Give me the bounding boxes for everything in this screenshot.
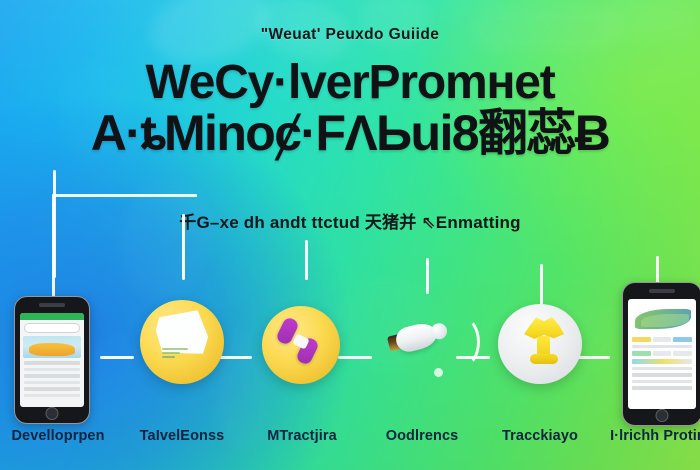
phone-chip-row xyxy=(632,337,692,342)
phone-content-row xyxy=(632,380,692,383)
bowtie-shape xyxy=(276,318,328,366)
paper-lines xyxy=(162,348,188,362)
phone-content-row xyxy=(24,394,80,397)
phone-hero-image xyxy=(23,336,81,358)
timeline-node-4[interactable]: Oodlrencs xyxy=(364,276,480,470)
spray-droplet xyxy=(434,368,443,377)
phone-hero-graphic xyxy=(631,303,693,335)
timeline-stem xyxy=(53,170,56,278)
timeline-node-6[interactable]: I·lrichh Protin xyxy=(600,276,700,470)
phone-content-row xyxy=(24,387,80,391)
sprout-circle-icon xyxy=(498,304,582,384)
node-art xyxy=(600,276,700,426)
spray-arc xyxy=(444,316,480,368)
phone-content-row xyxy=(632,367,692,370)
smartphone-icon xyxy=(14,296,90,424)
spray-nozzle-icon xyxy=(385,318,446,359)
phone-content-row xyxy=(632,373,692,377)
timeline-node-3[interactable]: MTractjira xyxy=(244,276,360,470)
headline-line-1: WeCy·lverPromнet xyxy=(145,56,554,109)
timeline-node-label-6: I·lrichh Protin xyxy=(586,428,700,444)
timeline-stem xyxy=(182,214,185,280)
node-art xyxy=(244,276,360,426)
infographic-banner: "Weuat' Peuxdo Guiide WeCy·lverPromнet A… xyxy=(0,0,700,470)
phone-speaker xyxy=(39,303,65,307)
bowtie-circle-icon xyxy=(262,306,340,384)
phone-highlight-row xyxy=(632,359,692,364)
timeline-node-1[interactable]: Develloprpen xyxy=(0,276,116,470)
headline-line-2: A·ȶMinoȼ·FΛЬui8翻蕊Ƀ xyxy=(0,108,700,158)
node-art xyxy=(482,276,598,426)
process-timeline: Develloprpen TaIvelEonss MTractjira xyxy=(0,276,700,470)
phone-speaker xyxy=(649,289,675,293)
phone-screen xyxy=(20,313,84,407)
sprout-shape xyxy=(522,316,566,364)
smartphone-icon xyxy=(622,282,700,426)
phone-content-row xyxy=(24,374,80,378)
node-art xyxy=(364,276,480,426)
phone-content-row xyxy=(632,386,692,390)
timeline-stem xyxy=(305,240,308,280)
phone-content-row xyxy=(24,368,80,371)
phone-search-bar xyxy=(24,323,80,333)
phone-screen xyxy=(628,299,696,409)
phone-home-button xyxy=(46,407,59,420)
node-art xyxy=(124,276,240,426)
phone-content-row xyxy=(24,361,80,365)
node-art xyxy=(0,276,116,426)
banner-eyebrow: "Weuat' Peuxdo Guiide xyxy=(0,26,700,44)
phone-home-button xyxy=(656,409,669,422)
banner-headline: WeCy·lverPromнet A·ȶMinoȼ·FΛЬui8翻蕊Ƀ xyxy=(0,58,700,158)
phone-content-row xyxy=(632,345,692,348)
phone-status-bar xyxy=(20,313,84,320)
phone-content-row xyxy=(24,381,80,384)
phone-chip-row xyxy=(632,351,692,356)
sprout-base xyxy=(530,354,558,364)
document-circle-icon xyxy=(140,300,224,384)
timeline-node-5[interactable]: Tracckiayo xyxy=(482,276,598,470)
timeline-node-2[interactable]: TaIvelEonss xyxy=(124,276,240,470)
